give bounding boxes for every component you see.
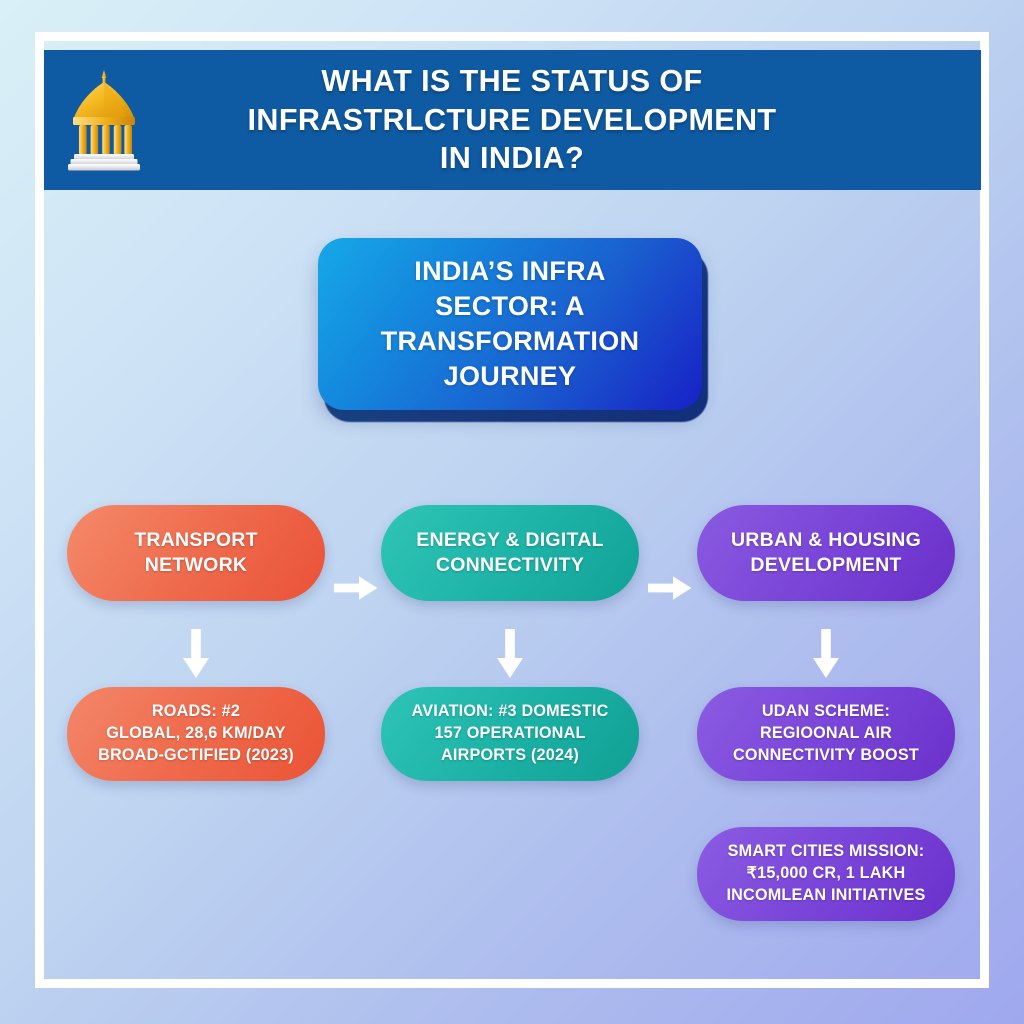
detail-line-3: CONNECTIVITY BOOST [733, 745, 919, 767]
page-title: WHAT IS THE STATUS OF INFRASTRLCTURE DEV… [44, 62, 981, 178]
detail-line-3: AIRPORTS (2024) [412, 745, 609, 767]
detail-pill-smart-cities-mission[interactable]: SMART CITIES MISSION: ₹15,000 CR, 1 LAKH… [697, 827, 955, 921]
classical-government-building-icon [68, 66, 140, 172]
category-line-1: URBAN & HOUSING [731, 528, 921, 553]
detail-line-1: SMART CITIES MISSION: [726, 841, 925, 863]
detail-line-1: UDAN SCHEME: [733, 701, 919, 723]
header-banner: WHAT IS THE STATUS OF INFRASTRLCTURE DEV… [44, 50, 981, 190]
detail-label-udan-scheme: UDAN SCHEME: REGIOONAL AIR CONNECTIVITY … [725, 701, 927, 766]
category-line-2: NETWORK [134, 553, 258, 578]
hero-title-line-2: SECTOR: A [381, 289, 640, 324]
hero-title-line-1: INDIA’S INFRA [381, 254, 640, 289]
category-line-2: CONNECTIVITY [416, 553, 603, 578]
detail-label-roads: ROADS: #2 GLOBAL, 28,6 KM/DAY BROAD-GCTI… [90, 701, 302, 766]
hero-title-card-wrapper: INDIA’S INFRA SECTOR: A TRANSFORMATION J… [318, 238, 708, 418]
category-pill-energy-digital-connectivity[interactable]: ENERGY & DIGITAL CONNECTIVITY [381, 505, 639, 601]
detail-line-2: 157 OPERATIONAL [412, 723, 609, 745]
detail-line-2: GLOBAL, 28,6 KM/DAY [98, 723, 294, 745]
detail-line-2: REGIOONAL AIR [733, 723, 919, 745]
hero-title-line-3: TRANSFORMATION [381, 324, 640, 359]
detail-line-1: AVIATION: #3 DOMESTIC [412, 701, 609, 723]
arrow-down-urban-icon [811, 629, 841, 679]
arrow-down-transport-icon [181, 629, 211, 679]
category-pill-urban-housing-development[interactable]: URBAN & HOUSING DEVELOPMENT [697, 505, 955, 601]
infographic-poster: WHAT IS THE STATUS OF INFRASTRLCTURE DEV… [0, 0, 1024, 1024]
hero-title-card: INDIA’S INFRA SECTOR: A TRANSFORMATION J… [318, 238, 702, 410]
arrow-right-transport-to-energy-icon [334, 575, 378, 601]
poster-stage: WHAT IS THE STATUS OF INFRASTRLCTURE DEV… [44, 41, 980, 979]
hero-title-line-4: JOURNEY [381, 359, 640, 394]
detail-label-smart-cities-mission: SMART CITIES MISSION: ₹15,000 CR, 1 LAKH… [718, 841, 933, 906]
detail-pill-roads[interactable]: ROADS: #2 GLOBAL, 28,6 KM/DAY BROAD-GCTI… [67, 687, 325, 781]
header-title-line-2: INFRASTRLCTURE DEVELOPMENT [154, 101, 871, 140]
detail-line-2: ₹15,000 CR, 1 LAKH [726, 863, 925, 885]
detail-pill-aviation[interactable]: AVIATION: #3 DOMESTIC 157 OPERATIONAL AI… [381, 687, 639, 781]
hero-title-text: INDIA’S INFRA SECTOR: A TRANSFORMATION J… [381, 254, 640, 394]
detail-line-3: BROAD-GCTIFIED (2023) [98, 745, 294, 767]
category-label-transport-network: TRANSPORT NETWORK [120, 528, 272, 577]
arrow-right-energy-to-urban-icon [648, 575, 692, 601]
detail-label-aviation: AVIATION: #3 DOMESTIC 157 OPERATIONAL AI… [404, 701, 617, 766]
header-title-line-3: IN INDIA? [154, 139, 871, 178]
detail-line-3: INCOMLEAN INITIATIVES [726, 885, 925, 907]
header-title-line-1: WHAT IS THE STATUS OF [154, 62, 871, 101]
detail-pill-udan-scheme[interactable]: UDAN SCHEME: REGIOONAL AIR CONNECTIVITY … [697, 687, 955, 781]
detail-line-1: ROADS: #2 [98, 701, 294, 723]
category-line-1: TRANSPORT [134, 528, 258, 553]
category-line-1: ENERGY & DIGITAL [416, 528, 603, 553]
category-line-2: DEVELOPMENT [731, 553, 921, 578]
category-label-urban-housing-development: URBAN & HOUSING DEVELOPMENT [717, 528, 935, 577]
arrow-down-energy-icon [495, 629, 525, 679]
category-pill-transport-network[interactable]: TRANSPORT NETWORK [67, 505, 325, 601]
category-label-energy-digital-connectivity: ENERGY & DIGITAL CONNECTIVITY [402, 528, 617, 577]
